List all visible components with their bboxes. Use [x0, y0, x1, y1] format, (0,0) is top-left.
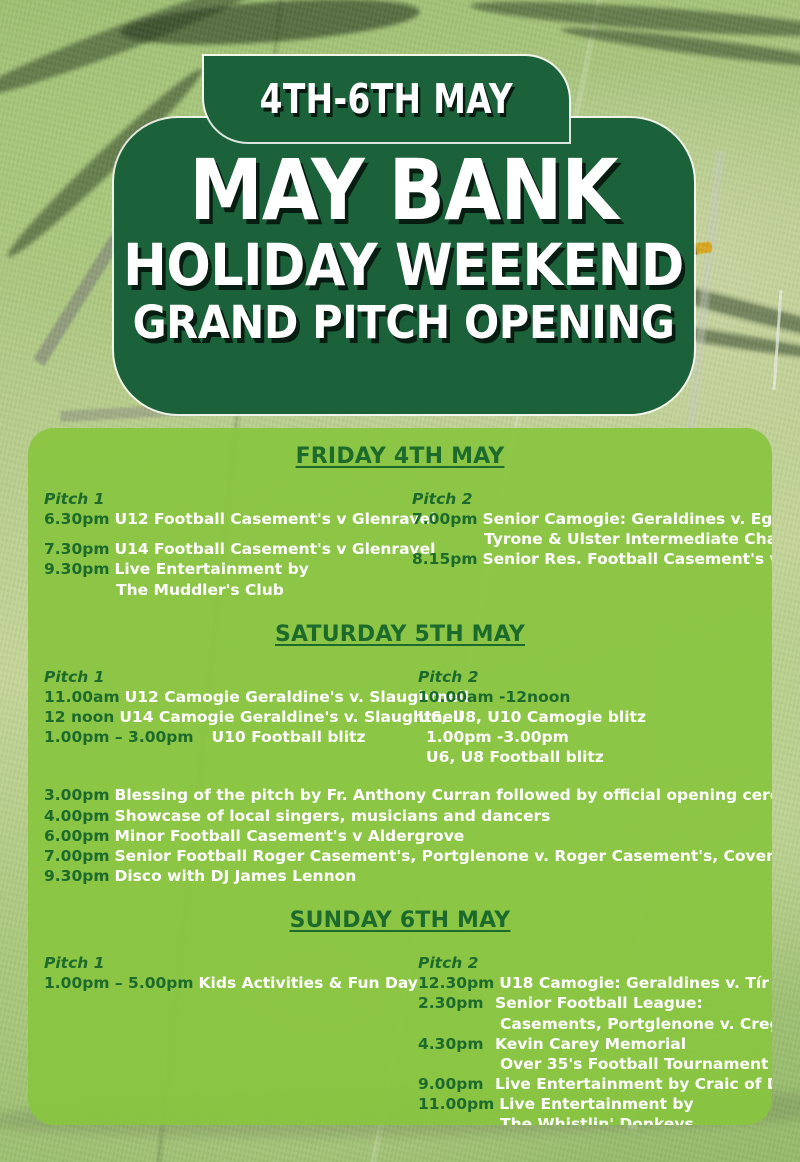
- schedule-row: 2.30pm Senior Football League:: [418, 993, 772, 1013]
- title-shield: MAY BANK HOLIDAY WEEKEND GRAND PITCH OPE…: [114, 118, 694, 414]
- friday-pitch2-column: Pitch 2 7.00pm Senior Camogie: Geraldine…: [412, 489, 772, 600]
- schedule-row: 9.00pm Live Entertainment by Craic of Do…: [418, 1074, 772, 1094]
- event-time: 1.00pm – 5.00pm: [44, 973, 194, 993]
- event-description: U12 Football Casement's v Glenravel: [110, 509, 436, 529]
- sunday-pitch1-column: Pitch 1 1.00pm – 5.00pm Kids Activities …: [36, 953, 412, 1125]
- schedule-row: 7.00pm Senior Football Roger Casement's,…: [44, 846, 764, 866]
- schedule-row: 3.00pm Blessing of the pitch by Fr. Anth…: [44, 785, 764, 805]
- event-description: The Whistlin' Donkeys: [495, 1114, 694, 1125]
- event-description: Kids Activities & Fun Day: [194, 973, 418, 993]
- event-description: Live Entertainment by Craic of Don: [490, 1074, 772, 1094]
- schedule-row: U6, U8, U10 Camogie blitz: [418, 707, 764, 727]
- event-description: Showcase of local singers, musicians and…: [110, 806, 551, 826]
- event-description: Over 35's Football Tournament: [495, 1054, 768, 1074]
- event-description: U18 Camogie: Geraldines v. Tír na nÓg: [494, 973, 772, 993]
- day-section-sunday: SUNDAY 6TH MAY Pitch 1 1.00pm – 5.00pm K…: [28, 886, 772, 1125]
- schedule-row: 7.30pm U14 Football Casement's v Glenrav…: [44, 539, 412, 559]
- friday-pitch1-label: Pitch 1: [44, 489, 412, 509]
- sunday-pitch1-label: Pitch 1: [44, 953, 412, 973]
- schedule-row: 10.00am -12noon: [418, 687, 764, 707]
- event-time: 8.15pm: [412, 549, 478, 569]
- schedule-row-continuation: The Whistlin' Donkeys: [418, 1114, 772, 1125]
- schedule-row-continuation: Casements, Portglenone v. Creggan: [418, 1014, 772, 1034]
- event-description: Senior Res. Football Casement's v. Cregg…: [478, 549, 773, 569]
- event-time: 7.00pm: [44, 846, 110, 866]
- event-description: 1.00pm -3.00pm: [426, 727, 569, 747]
- event-description: Live Entertainment by: [110, 559, 309, 579]
- schedule-row: 1.00pm – 3.00pm U10 Football blitz: [44, 727, 412, 747]
- schedule-row: 1.00pm – 5.00pm Kids Activities & Fun Da…: [44, 973, 412, 993]
- schedule-row: 6.00pm Minor Football Casement's v Alder…: [44, 826, 764, 846]
- event-time: 10.00am -12noon: [418, 687, 570, 707]
- saturday-pitch1-label: Pitch 1: [44, 667, 412, 687]
- event-time: 9.00pm: [418, 1074, 490, 1094]
- day-section-friday: FRIDAY 4TH MAY Pitch 1 6.30pm U12 Footba…: [28, 428, 772, 600]
- event-description: Kevin Carey Memorial: [490, 1034, 686, 1054]
- event-description: Casements, Portglenone v. Creggan: [495, 1014, 772, 1034]
- saturday-pitch-columns: Pitch 1 11.00am U12 Camogie Geraldine's …: [36, 667, 764, 768]
- event-description: Live Entertainment by: [494, 1094, 693, 1114]
- day-heading-sunday: SUNDAY 6TH MAY: [36, 908, 764, 933]
- saturday-pitch1-column: Pitch 1 11.00am U12 Camogie Geraldine's …: [36, 667, 412, 768]
- event-description: Senior Football League:: [490, 993, 703, 1013]
- friday-pitch2-label: Pitch 2: [412, 489, 772, 509]
- event-description: U6, U8 Football blitz: [426, 747, 604, 767]
- schedule-row: 12.30pm U18 Camogie: Geraldines v. Tír n…: [418, 973, 772, 993]
- poster-title-line2: HOLIDAY WEEKEND: [124, 236, 685, 294]
- schedule-row: 8.15pm Senior Res. Football Casement's v…: [412, 549, 772, 569]
- event-time: 2.30pm: [418, 993, 490, 1013]
- event-time: 12.30pm: [418, 973, 494, 993]
- event-description: U10 Football blitz: [194, 727, 366, 747]
- event-time: 4.00pm: [44, 806, 110, 826]
- sunday-pitch-columns: Pitch 1 1.00pm – 5.00pm Kids Activities …: [36, 953, 764, 1125]
- day-heading-friday: FRIDAY 4TH MAY: [36, 444, 764, 469]
- schedule-row: 4.00pm Showcase of local singers, musici…: [44, 806, 764, 826]
- schedule-row: 4.30pm Kevin Carey Memorial: [418, 1034, 772, 1054]
- saturday-pitch2-column: Pitch 2 10.00am -12noon U6, U8, U10 Camo…: [412, 667, 764, 768]
- poster-title-line3: GRAND PITCH OPENING: [133, 300, 675, 345]
- schedule-row: 7.00pm Senior Camogie: Geraldines v. Egl…: [412, 509, 772, 529]
- event-description: U14 Football Casement's v Glenravel: [110, 539, 436, 559]
- schedule-row: 12 noon U14 Camogie Geraldine's v. Slaug…: [44, 707, 412, 727]
- poster-root: 4TH-6TH MAY MAY BANK HOLIDAY WEEKEND GRA…: [0, 0, 800, 1162]
- saturday-evening-list: 3.00pm Blessing of the pitch by Fr. Anth…: [36, 785, 764, 886]
- row-spacer: [44, 529, 412, 539]
- schedule-row: 11.00am U12 Camogie Geraldine's v. Slaug…: [44, 687, 412, 707]
- friday-pitch1-column: Pitch 1 6.30pm U12 Football Casement's v…: [36, 489, 412, 600]
- event-time: 6.00pm: [44, 826, 110, 846]
- day-heading-saturday: SATURDAY 5TH MAY: [36, 622, 764, 647]
- event-time: 12 noon: [44, 707, 114, 727]
- schedule-row: 9.30pm Disco with DJ James Lennon: [44, 866, 764, 886]
- schedule-panel: FRIDAY 4TH MAY Pitch 1 6.30pm U12 Footba…: [28, 428, 772, 1125]
- poster-title-line1: MAY BANK: [190, 148, 619, 232]
- event-description: Disco with DJ James Lennon: [110, 866, 357, 886]
- event-description: Blessing of the pitch by Fr. Anthony Cur…: [110, 785, 773, 805]
- event-time: 3.00pm: [44, 785, 110, 805]
- event-description: Tyrone & Ulster Intermediate Champions: [479, 529, 772, 549]
- event-description: Senior Camogie: Geraldines v. Eglish: [478, 509, 773, 529]
- event-time: 11.00pm: [418, 1094, 494, 1114]
- schedule-row: 1.00pm -3.00pm: [418, 727, 764, 747]
- event-time: 11.00am: [44, 687, 120, 707]
- event-time: 9.30pm: [44, 866, 110, 886]
- event-description: Minor Football Casement's v Aldergrove: [110, 826, 465, 846]
- schedule-row: 11.00pm Live Entertainment by: [418, 1094, 772, 1114]
- schedule-row-continuation: U6, U8 Football blitz: [418, 747, 764, 767]
- event-time: 6.30pm: [44, 509, 110, 529]
- event-time: 1.00pm – 3.00pm: [44, 727, 194, 747]
- schedule-row: 6.30pm U12 Football Casement's v Glenrav…: [44, 509, 412, 529]
- schedule-row: 9.30pm Live Entertainment by: [44, 559, 412, 579]
- event-time: 7.00pm: [412, 509, 478, 529]
- event-description: The Muddler's Club: [111, 580, 284, 600]
- schedule-row-continuation: Over 35's Football Tournament: [418, 1054, 772, 1074]
- schedule-row-continuation: Tyrone & Ulster Intermediate Champions: [412, 529, 772, 549]
- poster-header: 4TH-6TH MAY MAY BANK HOLIDAY WEEKEND GRA…: [0, 0, 800, 430]
- day-section-saturday: SATURDAY 5TH MAY Pitch 1 11.00am U12 Cam…: [28, 600, 772, 886]
- sunday-pitch2-column: Pitch 2 12.30pm U18 Camogie: Geraldines …: [412, 953, 772, 1125]
- saturday-pitch2-label: Pitch 2: [418, 667, 764, 687]
- friday-pitch-columns: Pitch 1 6.30pm U12 Football Casement's v…: [36, 489, 764, 600]
- event-time: 7.30pm: [44, 539, 110, 559]
- date-ribbon: 4TH-6TH MAY: [204, 56, 569, 142]
- date-ribbon-text: 4TH-6TH MAY: [260, 75, 513, 123]
- event-time: 4.30pm: [418, 1034, 490, 1054]
- event-time: 9.30pm: [44, 559, 110, 579]
- event-description: U6, U8, U10 Camogie blitz: [418, 707, 646, 727]
- schedule-row-continuation: The Muddler's Club: [44, 580, 412, 600]
- sunday-pitch2-label: Pitch 2: [418, 953, 772, 973]
- schedule-panel-inner: FRIDAY 4TH MAY Pitch 1 6.30pm U12 Footba…: [28, 428, 772, 1125]
- event-description: Senior Football Roger Casement's, Portgl…: [110, 846, 773, 866]
